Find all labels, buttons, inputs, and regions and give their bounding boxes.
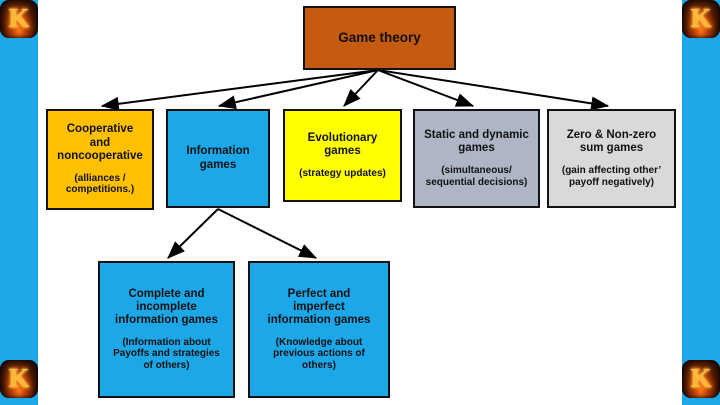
node-title: Perfect and imperfect information games	[268, 288, 371, 327]
node-title: Evolutionary games	[308, 132, 378, 158]
node-subtitle: (Knowledge about previous actions of oth…	[273, 337, 365, 371]
node-subtitle: (gain affecting other’ payoff negatively…	[562, 165, 661, 188]
node-static-dynamic-games[interactable]: Static and dynamic games (simultaneous/ …	[413, 109, 540, 208]
node-title: Game theory	[338, 30, 421, 45]
node-title: Information games	[186, 145, 249, 171]
slide-canvas: K K K K Game theory Cooperative	[0, 0, 720, 405]
node-complete-incomplete-information-games[interactable]: Complete and incomplete information game…	[98, 261, 235, 398]
edge-root-to-evolutionary	[344, 70, 378, 106]
node-subtitle: (strategy updates)	[299, 168, 386, 179]
node-subtitle: (Information about Payoffs and strategie…	[113, 337, 220, 371]
node-information-games[interactable]: Information games	[166, 109, 270, 208]
node-title: Complete and incomplete information game…	[115, 288, 218, 327]
node-subtitle: (simultaneous/ sequential decisions)	[426, 165, 528, 188]
node-subtitle: (alliances / competitions.)	[66, 173, 134, 196]
node-game-theory[interactable]: Game theory	[303, 6, 456, 70]
node-evolutionary-games[interactable]: Evolutionary games (strategy updates)	[283, 109, 402, 202]
edge-root-to-static	[378, 70, 473, 106]
node-cooperative-noncooperative[interactable]: Cooperative and noncooperative (alliance…	[46, 109, 154, 210]
node-title: Static and dynamic games	[424, 129, 529, 155]
node-title: Zero & Non-zero sum games	[567, 129, 656, 155]
node-zero-nonzero-sum-games[interactable]: Zero & Non-zero sum games (gain affectin…	[547, 109, 676, 208]
node-perfect-imperfect-information-games[interactable]: Perfect and imperfect information games …	[248, 261, 390, 398]
node-title: Cooperative and noncooperative	[57, 123, 143, 162]
edge-information-to-complete	[168, 209, 218, 258]
edge-information-to-perfect	[218, 209, 316, 258]
edge-root-to-zerosum	[378, 70, 608, 106]
